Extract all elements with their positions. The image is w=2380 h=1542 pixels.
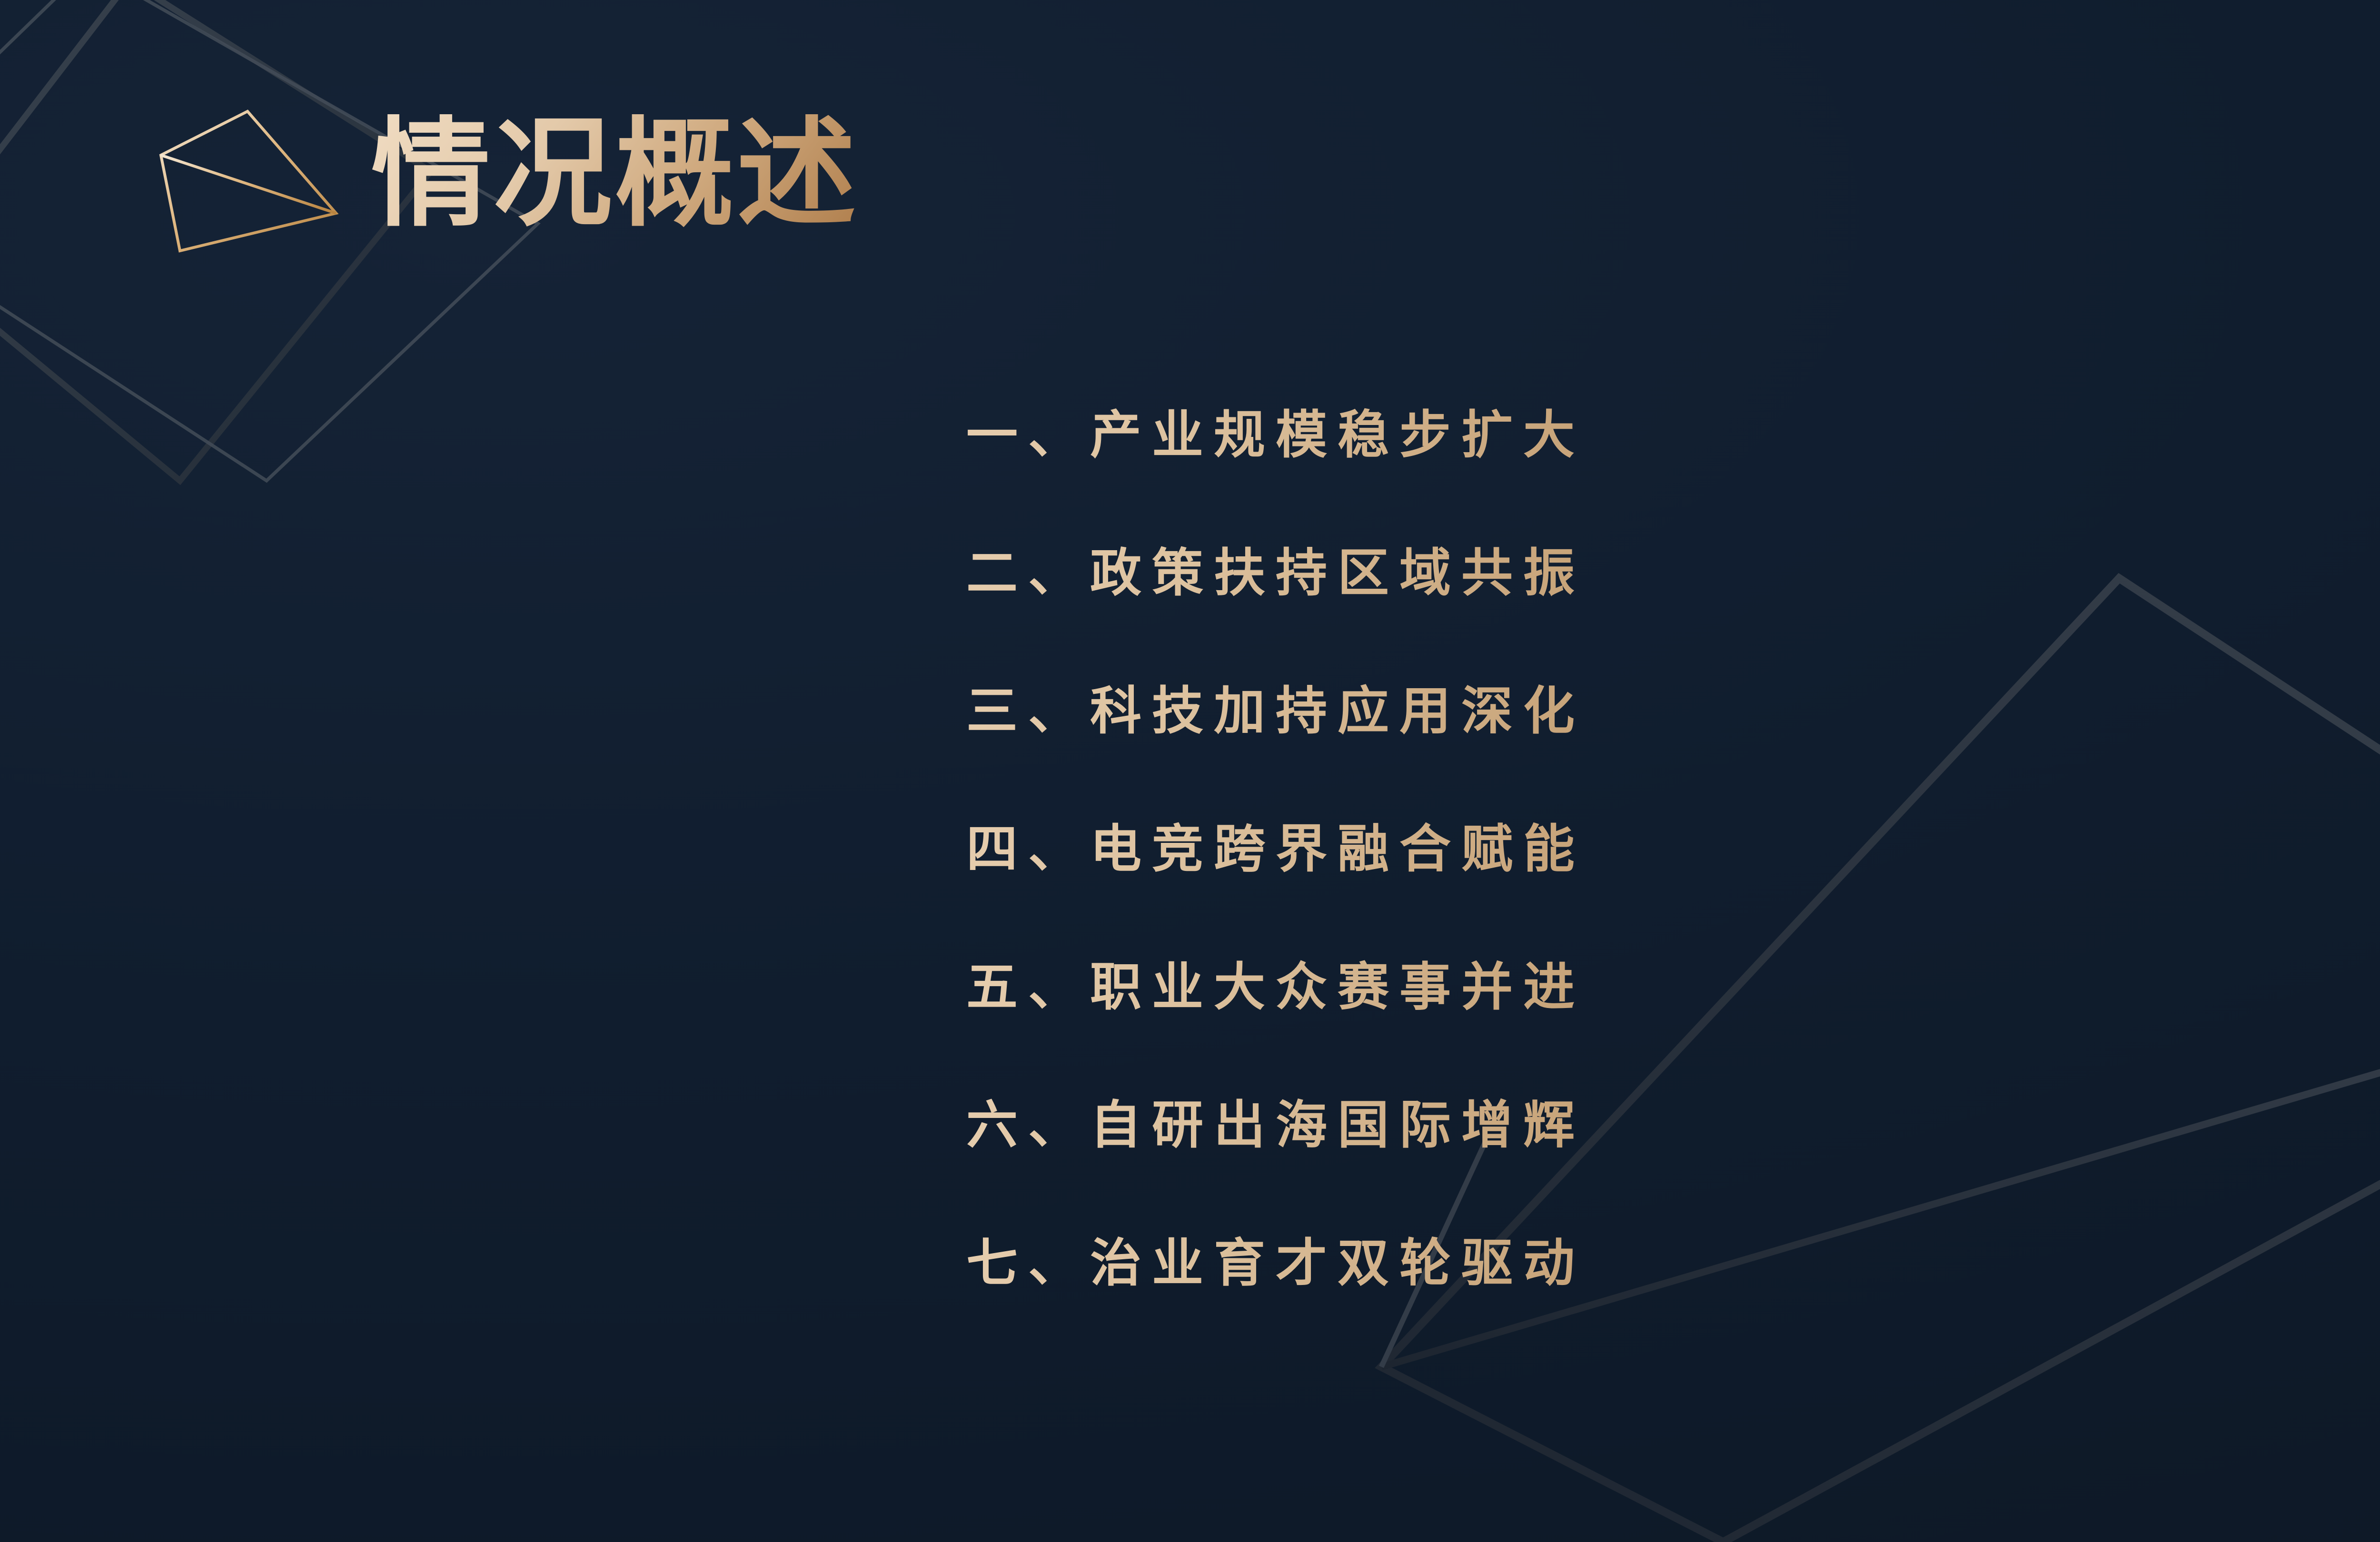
top-left-dark-quad-icon	[0, 0, 431, 481]
agenda-item-6[interactable]: 六、自研出海国际增辉	[966, 1052, 1709, 1190]
agenda-item-2[interactable]: 二、政策扶持区域共振	[966, 500, 1709, 638]
agenda-item-1[interactable]: 一、产业规模稳步扩大	[966, 362, 1709, 500]
agenda-list: 一、产业规模稳步扩大 二、政策扶持区域共振 三、科技加持应用深化 四、电竞跨界融…	[966, 362, 1709, 1328]
agenda-item-3[interactable]: 三、科技加持应用深化	[966, 638, 1709, 776]
top-left-gold-quad-icon	[161, 111, 336, 251]
agenda-item-4[interactable]: 四、电竞跨界融合赋能	[966, 776, 1709, 914]
slide-root: 情况概述 一、产业规模稳步扩大 二、政策扶持区域共振 三、科技加持应用深化 四、…	[0, 0, 2380, 1542]
top-left-thin-quad-icon	[0, 0, 538, 481]
agenda-item-5[interactable]: 五、职业大众赛事并进	[966, 914, 1709, 1052]
agenda-item-7[interactable]: 七、治业育才双轮驱动	[966, 1190, 1709, 1328]
title-block: 情况概述	[371, 114, 859, 233]
page-title: 情况概述	[371, 114, 859, 233]
